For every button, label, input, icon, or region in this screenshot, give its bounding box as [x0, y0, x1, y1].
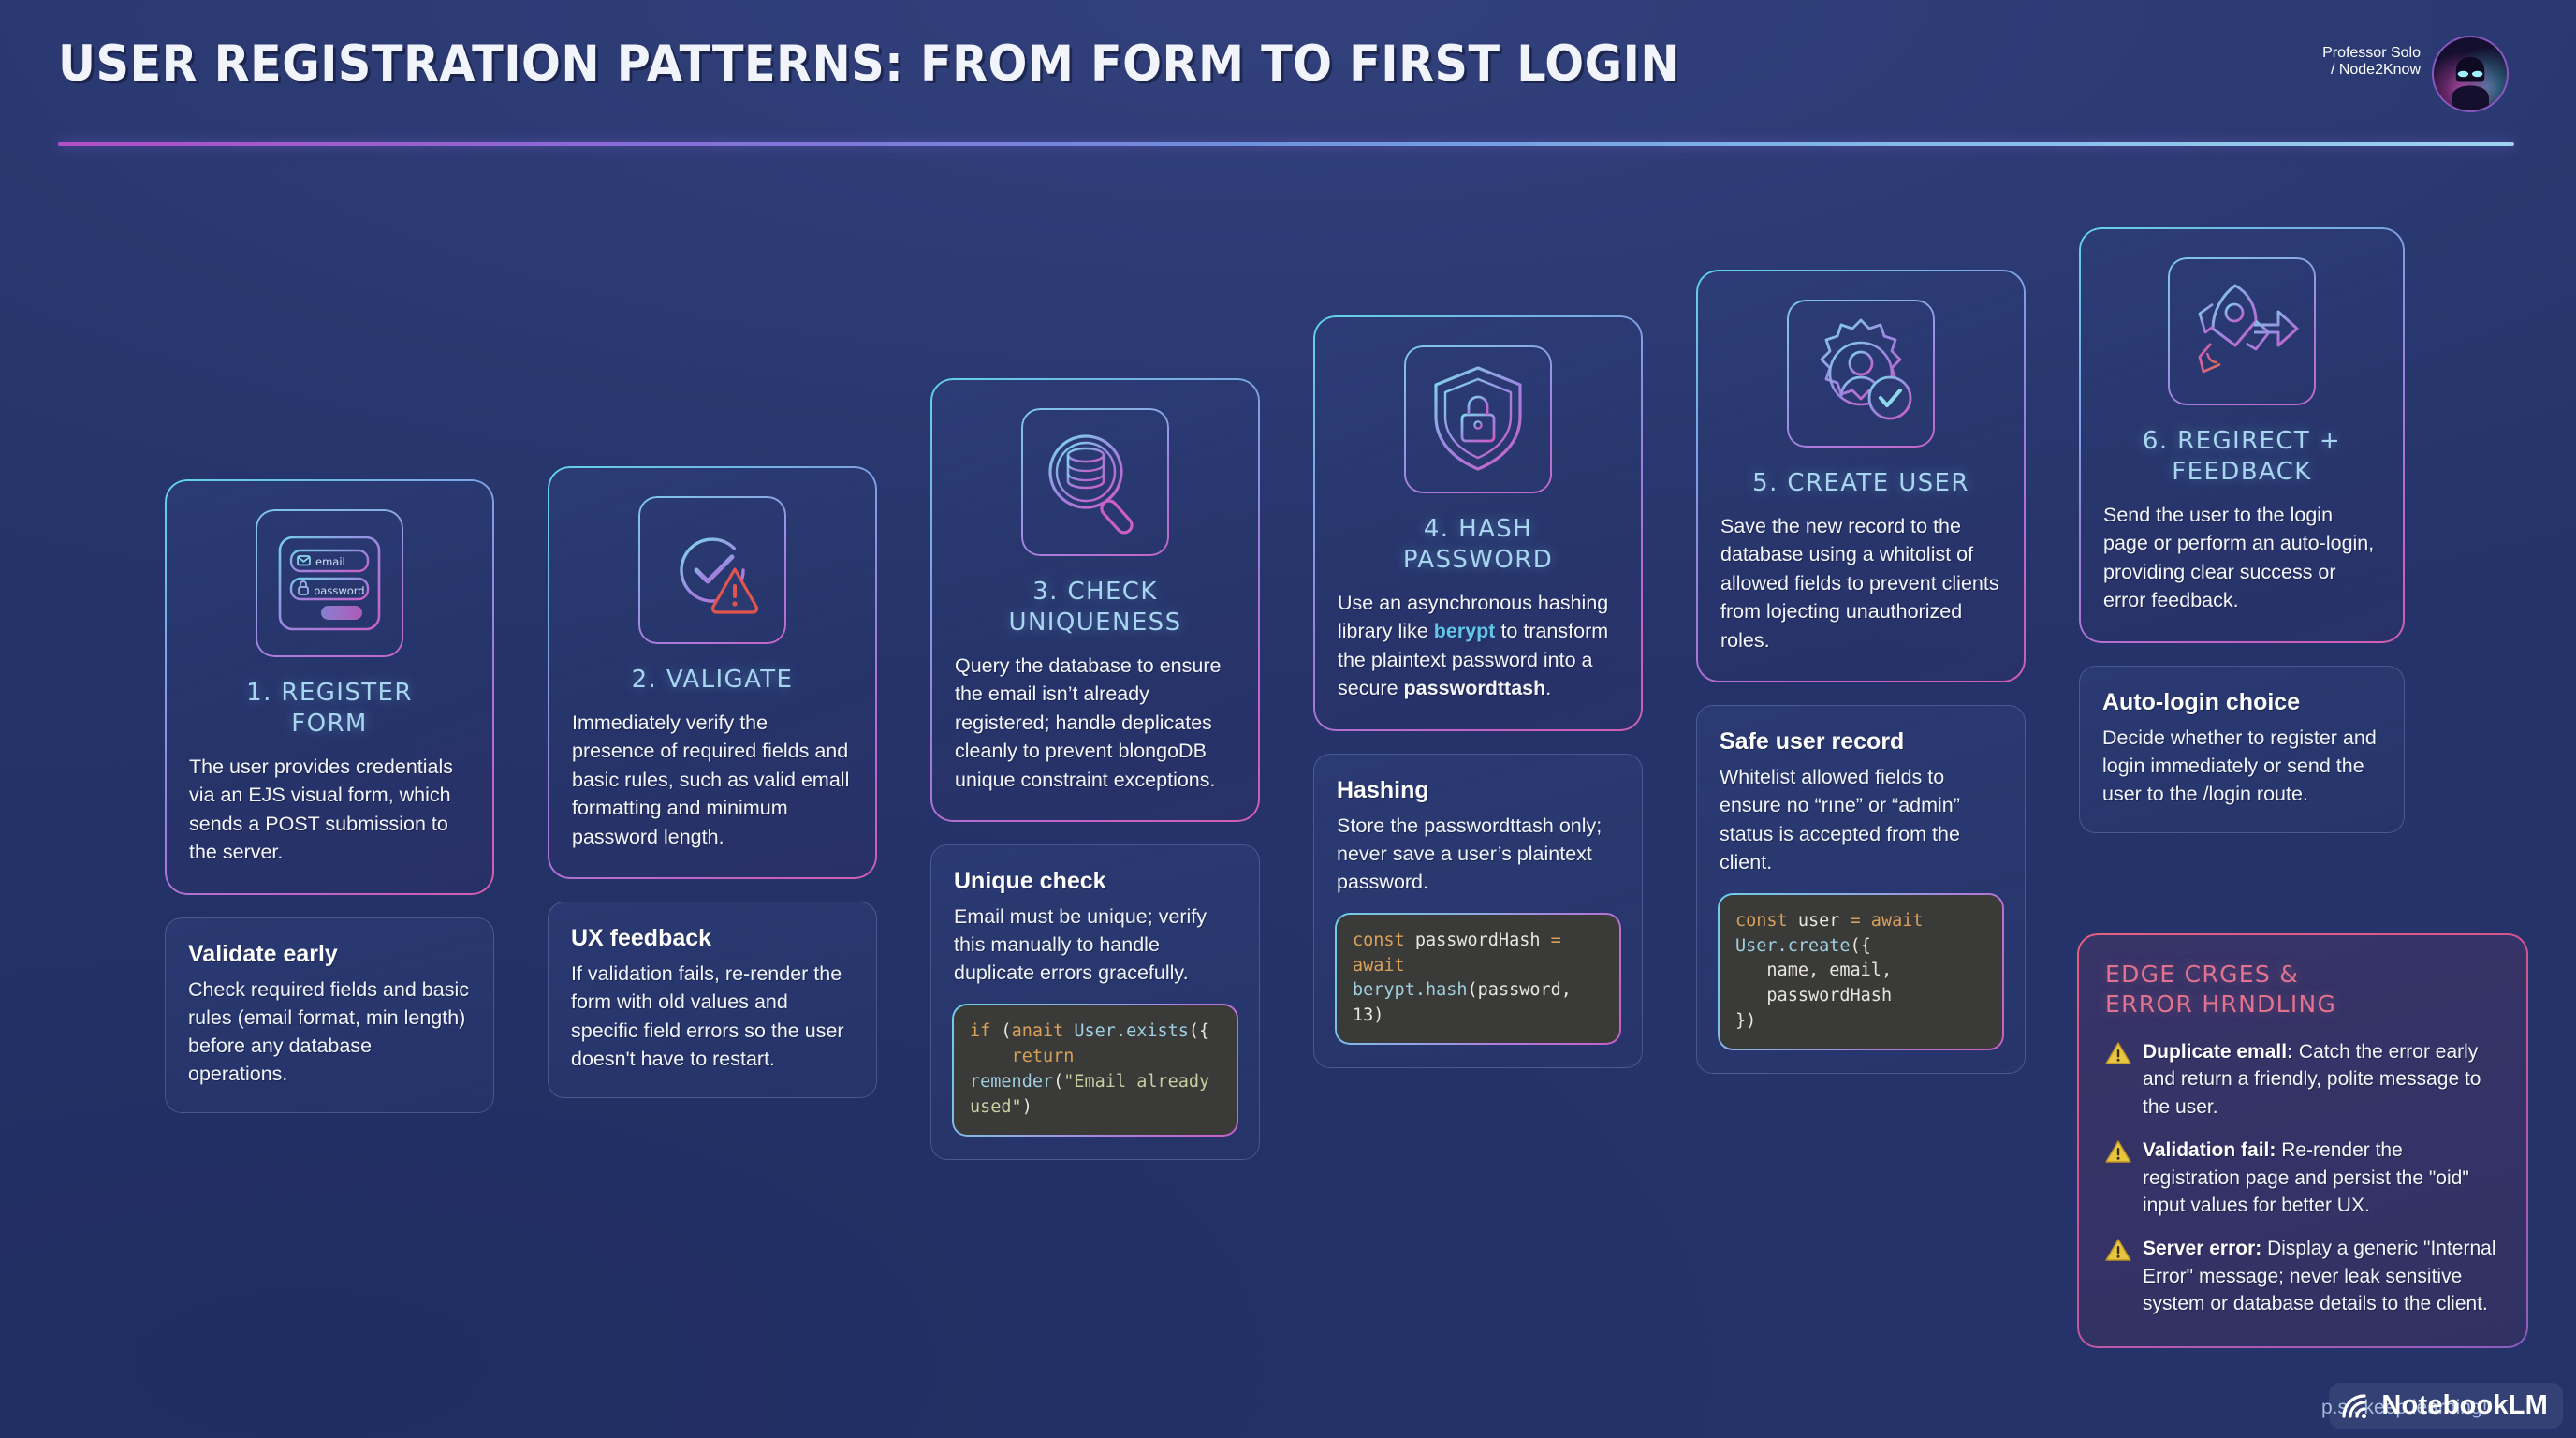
note-body: If validation fails, re-render the form … [571, 960, 854, 1072]
shield-lock-icon [1404, 345, 1552, 493]
infographic-canvas: USER REGISTRATION PATTERNS: FROM FORM TO… [0, 0, 2576, 1438]
note-title: Hashing [1337, 777, 1619, 804]
note-title: Safe user record [1720, 728, 2002, 756]
note-card-auto-login-choice[interactable]: Auto-login choice Decide whether to regi… [2079, 666, 2405, 833]
note-card-hashing[interactable]: Hashing Store the passwordttash only; ne… [1313, 754, 1643, 1069]
database-search-icon [1021, 408, 1169, 556]
step-description: Send the user to the login page or perfo… [2103, 501, 2380, 615]
step-card-check-uniqueness[interactable]: 3. CHECK UNIQUENESS Query the database t… [930, 378, 1260, 822]
step-card-hash-password[interactable]: 4. HASH PASSWORD Use an asynchronous has… [1313, 315, 1643, 731]
step-title: 1. REGISTER FORM [189, 678, 470, 740]
notebooklm-label: NotebookLM [2381, 1390, 2548, 1421]
step-column-1: email password 1. REGISTER FORM The user… [165, 479, 494, 1113]
step-title: 3. CHECK UNIQUENESS [955, 577, 1236, 638]
step-column-6: 6. REGIRECT + FEEDBACK Send the user to … [2079, 227, 2405, 833]
code-snippet-unique-check: if (anait User.exists({ return remender(… [954, 1005, 1237, 1134]
step-column-2: 2. VALIGATE Immediately verify the prese… [548, 466, 877, 1098]
user-badge-check-icon [1787, 300, 1935, 448]
notebooklm-logo-icon [2340, 1392, 2372, 1420]
note-body: Email must be unique; verify this manual… [954, 902, 1237, 987]
avatar [2432, 36, 2509, 112]
step-title: 6. REGIRECT + FEEDBACK [2103, 426, 2380, 488]
edge-cases-title: EDGE CRGES & ERROR HRNDLING [2105, 960, 2500, 1020]
note-card-validate-early[interactable]: Validate early Check required fields and… [165, 917, 494, 1113]
register-form-icon: email password [256, 509, 403, 657]
step-card-register-form[interactable]: email password 1. REGISTER FORM The user… [165, 479, 494, 895]
header: USER REGISTRATION PATTERNS: FROM FORM TO… [0, 0, 2576, 157]
note-card-safe-user-record[interactable]: Safe user record Whitelist allowed field… [1696, 705, 2026, 1073]
edge-case-label: Validation fail: [2143, 1139, 2276, 1161]
warning-triangle-icon [2105, 1139, 2131, 1219]
note-body: Check required fields and basic rules (e… [188, 976, 471, 1088]
svg-text:password: password [314, 584, 365, 597]
edge-cases-panel[interactable]: EDGE CRGES & ERROR HRNDLING Duplicate em… [2079, 935, 2526, 1346]
notebooklm-badge: NotebookLM [2329, 1383, 2563, 1429]
warning-triangle-icon [2105, 1041, 2131, 1121]
step-card-redirect-feedback[interactable]: 6. REGIRECT + FEEDBACK Send the user to … [2079, 227, 2405, 643]
code-snippet-create-user: const user = await User.create({ name, e… [1720, 895, 2002, 1049]
header-divider [58, 142, 2514, 146]
step-card-create-user[interactable]: 5. CREATE USER Save the new record to th… [1696, 270, 2026, 682]
step-title: 2. VALIGATE [572, 665, 853, 696]
avatar-figure-icon [2434, 37, 2507, 110]
warning-triangle-icon [2105, 1238, 2131, 1317]
step-description: Save the new record to the database usin… [1720, 512, 2001, 655]
step-description: The user provides credentials via an EJS… [189, 753, 470, 867]
step-description: Use an asynchronous hashing library like… [1338, 589, 1618, 703]
rocket-arrow-icon [2168, 257, 2316, 405]
step-column-3: 3. CHECK UNIQUENESS Query the database t… [930, 378, 1260, 1160]
note-body: Store the passwordttash only; never save… [1337, 812, 1619, 896]
note-title: Unique check [954, 868, 1237, 895]
brand-name: Professor Solo [2322, 45, 2421, 62]
step-column-4: 4. HASH PASSWORD Use an asynchronous has… [1313, 315, 1643, 1068]
edge-case-label: Duplicate emall: [2143, 1041, 2293, 1063]
note-title: Auto-login choice [2102, 689, 2381, 716]
step-title: 4. HASH PASSWORD [1338, 514, 1618, 576]
brand-subtitle: / Node2Know [2322, 62, 2421, 79]
edge-case-item: Server error: Display a generic "Interna… [2105, 1235, 2500, 1317]
code-snippet-hashing: const passwordHash = await berypt.hash(p… [1337, 915, 1619, 1043]
edge-case-label: Server error: [2143, 1238, 2261, 1259]
page-title: USER REGISTRATION PATTERNS: FROM FORM TO… [58, 36, 1679, 93]
note-card-ux-feedback[interactable]: UX feedback If validation fails, re-rend… [548, 902, 877, 1097]
step-description: Immediately verify the presence of requi… [572, 709, 853, 852]
edge-case-item: Duplicate emall: Catch the error early a… [2105, 1038, 2500, 1121]
step-title: 5. CREATE USER [1720, 468, 2001, 499]
svg-text:email: email [315, 555, 345, 568]
note-body: Whitelist allowed fields to ensure no “r… [1720, 763, 2002, 875]
brand-block: Professor Solo / Node2Know [2322, 45, 2421, 79]
edge-case-item: Validation fail: Re-render the registrat… [2105, 1137, 2500, 1219]
note-card-unique-check[interactable]: Unique check Email must be unique; verif… [930, 844, 1260, 1160]
note-title: Validate early [188, 941, 471, 968]
step-card-validate[interactable]: 2. VALIGATE Immediately verify the prese… [548, 466, 877, 879]
step-column-5: 5. CREATE USER Save the new record to th… [1696, 270, 2026, 1074]
note-body: Decide whether to register and login imm… [2102, 724, 2381, 808]
note-title: UX feedback [571, 925, 854, 952]
validate-check-warning-icon [638, 496, 786, 644]
step-description: Query the database to ensure the email i… [955, 652, 1236, 795]
